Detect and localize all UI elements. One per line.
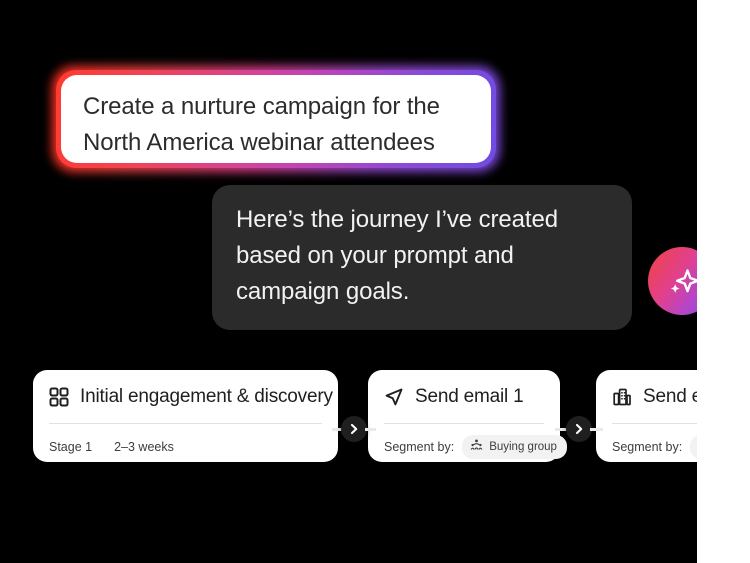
segment-by-label: Segment by: (384, 440, 454, 454)
card-divider (49, 423, 322, 424)
card-title: Initial engagement & discovery (80, 386, 333, 408)
right-panel-overlay (697, 0, 750, 563)
card-footer: Segment by: Buying group (384, 435, 544, 459)
chevron-right-icon[interactable] (566, 416, 592, 442)
card-duration-label: 2–3 weeks (114, 440, 174, 454)
assistant-bubble: Here’s the journey I’ve created based on… (212, 185, 632, 330)
segment-value: Buying group (489, 441, 557, 453)
building-icon (612, 387, 632, 407)
user-prompt-text: Create a nurture campaign for the North … (83, 89, 471, 161)
user-prompt-bubble: Create a nurture campaign for the North … (56, 70, 496, 168)
card-footer: Stage 1 2–3 weeks (49, 435, 322, 459)
grid-apps-icon (49, 387, 69, 407)
journey-connector[interactable] (332, 416, 376, 442)
prompt-inner-surface: Create a nurture campaign for the North … (61, 75, 491, 163)
card-divider (384, 423, 544, 424)
journey-connector[interactable] (555, 416, 603, 442)
assistant-message: Here’s the journey I’ve created based on… (212, 185, 632, 330)
card-header: Send email 1 (384, 382, 544, 412)
journey-flow: Initial engagement & discovery Stage 1 2… (0, 362, 750, 482)
segment-by-label: Segment by: (612, 440, 682, 454)
people-group-icon (470, 438, 483, 456)
card-stage-label: Stage 1 (49, 440, 92, 454)
sparkle-star-icon (662, 261, 702, 301)
prompt-gradient-border: Create a nurture campaign for the North … (56, 70, 496, 168)
segment-pill[interactable]: Buying group (462, 435, 567, 459)
connector-line-after (590, 428, 603, 431)
canvas: Create a nurture campaign for the North … (0, 0, 750, 563)
paper-plane-icon (384, 387, 404, 407)
chevron-right-icon[interactable] (341, 416, 367, 442)
connector-line-after (365, 428, 376, 431)
card-header: Initial engagement & discovery (49, 382, 322, 412)
journey-card-email-1[interactable]: Send email 1 Segment by: (368, 370, 560, 462)
assistant-reply-text: Here’s the journey I’ve created based on… (236, 202, 608, 310)
card-title: Send email 1 (415, 386, 524, 408)
journey-card-stage[interactable]: Initial engagement & discovery Stage 1 2… (33, 370, 338, 462)
